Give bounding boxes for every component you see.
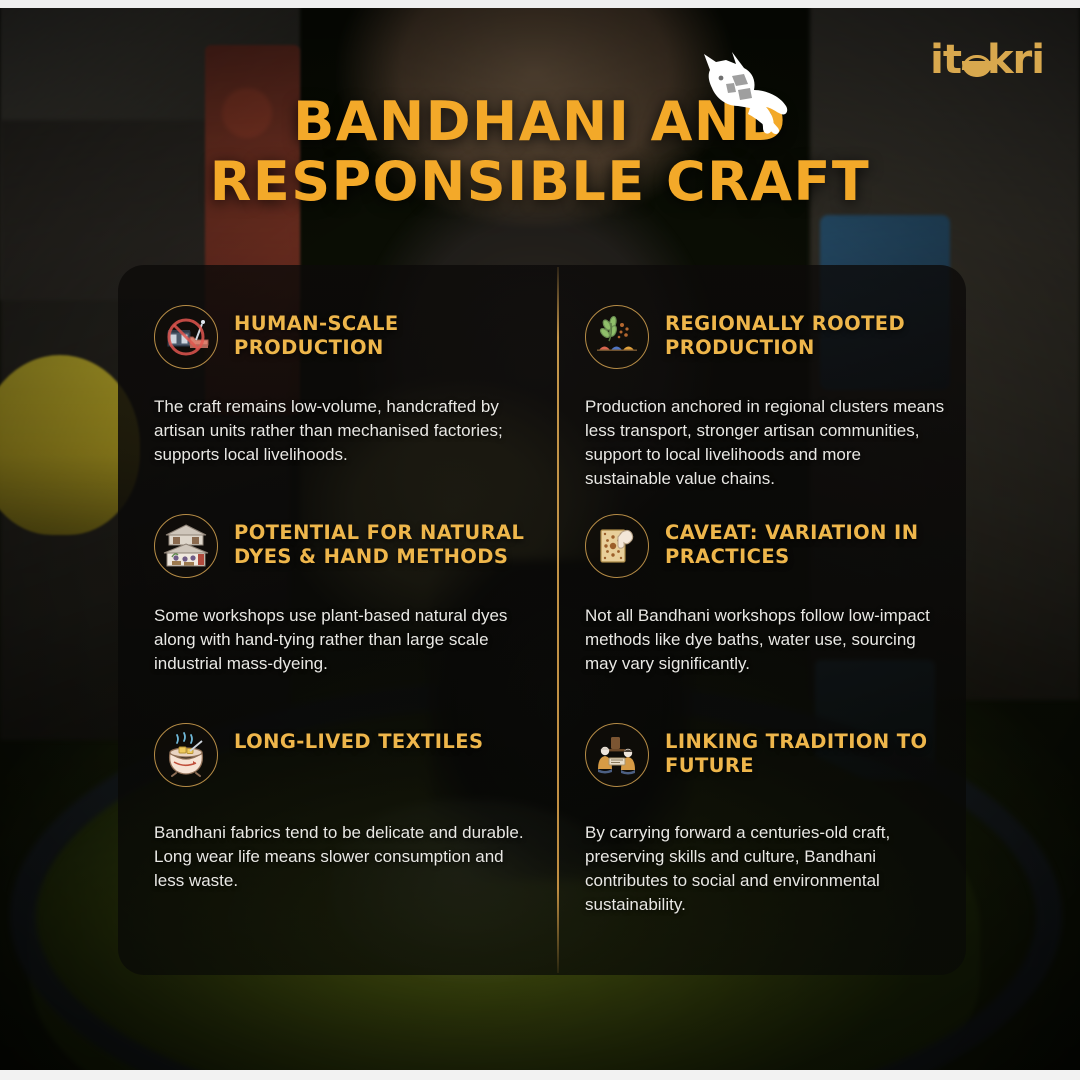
feature-card-human-scale-production: HUMAN-SCALE PRODUCTION The craft remains… [118,305,557,514]
card-header: LINKING TRADITION TO FUTURE [585,723,946,787]
artisan-workshop-building-icon [154,514,218,578]
brand-logo-text-left: it [930,37,961,83]
no-factory-icon [154,305,218,369]
card-title: POTENTIAL FOR NATURAL DYES & HAND METHOD… [234,514,529,569]
card-header: REGIONALLY ROOTED PRODUCTION [585,305,946,369]
card-body: Production anchored in regional clusters… [585,395,946,492]
card-title: LONG-LIVED TEXTILES [234,723,483,754]
page-title: BANDHANI AND RESPONSIBLE CRAFT [200,92,880,213]
feature-card-potential-for-natural-dyes: POTENTIAL FOR NATURAL DYES & HAND METHOD… [118,514,557,723]
card-title: LINKING TRADITION TO FUTURE [665,723,946,778]
card-header: LONG-LIVED TEXTILES [154,723,529,787]
bottom-edge-band [0,1070,1080,1080]
card-title: CAVEAT: VARIATION IN PRACTICES [665,514,946,569]
basket-icon [961,51,987,77]
card-body: The craft remains low-volume, handcrafte… [154,395,529,467]
feature-grid: HUMAN-SCALE PRODUCTION The craft remains… [118,265,966,975]
page-title-line-1: BANDHANI AND [293,90,787,153]
brand-logo-text-right: kri [987,37,1044,83]
card-title: HUMAN-SCALE PRODUCTION [234,305,529,360]
card-header: HUMAN-SCALE PRODUCTION [154,305,529,369]
brand-logo[interactable]: itkri [930,40,1044,80]
title-block: BANDHANI AND RESPONSIBLE CRAFT [0,92,1080,213]
card-header: CAVEAT: VARIATION IN PRACTICES [585,514,946,578]
two-artisans-icon [585,723,649,787]
feature-card-caveat-variation-in-practices: CAVEAT: VARIATION IN PRACTICES Not all B… [557,514,966,723]
page-title-line-2: RESPONSIBLE CRAFT [210,150,871,213]
top-edge-band [0,0,1080,8]
feature-card-linking-tradition-to-future: LINKING TRADITION TO FUTURE By carrying … [557,723,966,943]
feature-card-regionally-rooted-production: REGIONALLY ROOTED PRODUCTION Production … [557,305,966,514]
card-title: REGIONALLY ROOTED PRODUCTION [665,305,946,360]
card-body: Not all Bandhani workshops follow low-im… [585,604,946,676]
card-body: By carrying forward a centuries-old craf… [585,821,946,918]
infographic-poster: itkri BANDHANI AND RESPONSIBLE CRAFT [0,0,1080,1080]
card-body: Bandhani fabrics tend to be delicate and… [154,821,529,893]
dye-pot-steam-icon [154,723,218,787]
feature-card-long-lived-textiles: LONG-LIVED TEXTILES Bandhani fabrics ten… [118,723,557,943]
plant-dye-pigments-icon [585,305,649,369]
hand-holding-bandhani-fabric-icon [585,514,649,578]
card-body: Some workshops use plant-based natural d… [154,604,529,676]
card-header: POTENTIAL FOR NATURAL DYES & HAND METHOD… [154,514,529,578]
